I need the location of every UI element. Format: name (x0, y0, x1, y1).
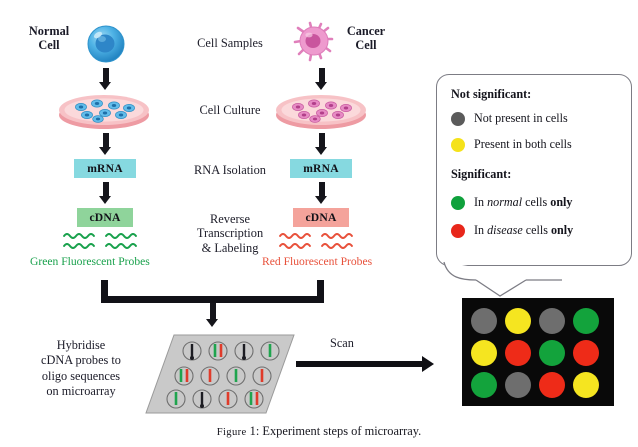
legend-disease-italic: disease (487, 223, 523, 237)
cancer-cell-icon (290, 18, 338, 68)
reverse-transcription-line2: Transcription (162, 226, 298, 240)
reverse-transcription-line3: & Labeling (162, 241, 298, 255)
legend-dot-green-icon (451, 196, 465, 210)
microarray-spot (573, 372, 599, 398)
step-label-cell-samples: Cell Samples (170, 36, 290, 50)
legend-normal-bold: only (550, 195, 572, 209)
scan-arrow-shaft (296, 361, 424, 367)
legend-dot-yellow-icon (451, 138, 465, 152)
cdna-box-normal-label: cDNA (89, 212, 120, 224)
legend-row-not-present: Not present in cells (451, 111, 568, 126)
hybridisation-line3: oligo sequences (16, 369, 146, 384)
legend-row-normal-only: In normal cells only (451, 195, 572, 210)
arrow-mrna-to-cdna-cancer (315, 182, 328, 204)
step-label-rna-isolation: RNA Isolation (170, 163, 290, 177)
legend-disease-bold: only (551, 223, 573, 237)
hybridisation-line4: on microarray (16, 384, 146, 399)
microarray-spot (505, 340, 531, 366)
legend-label-present-both: Present in both cells (474, 137, 572, 152)
mrna-box-normal: mRNA (74, 159, 136, 178)
microarray-spot (573, 308, 599, 334)
reverse-transcription-line1: Reverse (162, 212, 298, 226)
legend-disease-mid: cells (523, 223, 551, 237)
figure-caption-number: 1: (250, 424, 260, 438)
merge-bracket-right-stem (317, 280, 324, 296)
legend-label-normal-only: In normal cells only (474, 195, 572, 210)
microarray-spot (471, 340, 497, 366)
mrna-box-normal-label: mRNA (87, 163, 123, 175)
legend-disease-prefix: In (474, 223, 487, 237)
cdna-box-normal: cDNA (77, 208, 133, 227)
legend-callout: Not significant: Not present in cells Pr… (436, 74, 632, 266)
arrow-merge-to-hybridisation (206, 303, 219, 327)
arrow-mrna-to-cdna-normal (99, 182, 112, 204)
mrna-box-cancer-label: mRNA (303, 163, 339, 175)
arrow-culture-to-mrna-normal (99, 133, 112, 155)
step-label-reverse-transcription: Reverse Transcription & Labeling (162, 212, 298, 255)
step-label-cell-culture: Cell Culture (170, 103, 290, 117)
microarray-spot (539, 308, 565, 334)
arrow-normal-cell-to-culture (99, 68, 112, 90)
microarray-spot (573, 340, 599, 366)
normal-cell-title-line1: Normal (18, 24, 80, 38)
figure-canvas: Normal Cell (0, 0, 638, 447)
legend-row-present-both: Present in both cells (451, 137, 572, 152)
legend-row-disease-only: In disease cells only (451, 223, 573, 238)
normal-cell-icon (84, 22, 128, 66)
microarray-spot (471, 308, 497, 334)
hybridisation-caption: Hybridise cDNA probes to oligo sequences… (16, 338, 146, 400)
scan-label: Scan (330, 336, 354, 351)
merge-bracket-crossbar (101, 296, 324, 303)
legend-label-disease-only: In disease cells only (474, 223, 573, 238)
figure-caption-text: Experiment steps of microarray. (262, 424, 421, 438)
microarray-spot (505, 308, 531, 334)
microarray-spot (539, 372, 565, 398)
legend-normal-italic: normal (487, 195, 522, 209)
petri-dish-normal-icon (56, 89, 152, 131)
legend-callout-tail-icon (436, 252, 566, 302)
red-probes-label: Red Fluorescent Probes (262, 255, 372, 268)
legend-heading-not-significant: Not significant: (451, 87, 531, 102)
legend-normal-prefix: In (474, 195, 487, 209)
cancer-cell-title: Cancer Cell (334, 24, 398, 52)
legend-dot-gray-icon (451, 112, 465, 126)
mrna-box-cancer: mRNA (290, 159, 352, 178)
microarray-spot (539, 340, 565, 366)
cancer-cell-title-line2: Cell (334, 38, 398, 52)
scan-arrow-head (422, 356, 434, 372)
legend-label-not-present: Not present in cells (474, 111, 568, 126)
microarray-spot (505, 372, 531, 398)
microarray-result-image (462, 298, 614, 406)
cdna-box-cancer-label: cDNA (305, 212, 336, 224)
hybridisation-line2: cDNA probes to (16, 353, 146, 368)
green-probes-label: Green Fluorescent Probes (30, 255, 150, 268)
figure-caption-prefix: Figure (217, 427, 247, 438)
normal-cell-title-line2: Cell (18, 38, 80, 52)
arrow-culture-to-mrna-cancer (315, 133, 328, 155)
microarray-slide-icon (144, 333, 296, 417)
legend-dot-red-icon (451, 224, 465, 238)
normal-cell-title: Normal Cell (18, 24, 80, 52)
legend-normal-mid: cells (522, 195, 550, 209)
hybridisation-line1: Hybridise (16, 338, 146, 353)
arrow-cancer-cell-to-culture (315, 68, 328, 90)
cdna-box-cancer: cDNA (293, 208, 349, 227)
green-probe-squiggles-icon (62, 231, 148, 253)
merge-bracket-left-stem (101, 280, 108, 296)
microarray-spot (471, 372, 497, 398)
cancer-cell-title-line1: Cancer (334, 24, 398, 38)
legend-heading-significant: Significant: (451, 167, 511, 182)
figure-caption: Figure 1: Experiment steps of microarray… (0, 424, 638, 439)
